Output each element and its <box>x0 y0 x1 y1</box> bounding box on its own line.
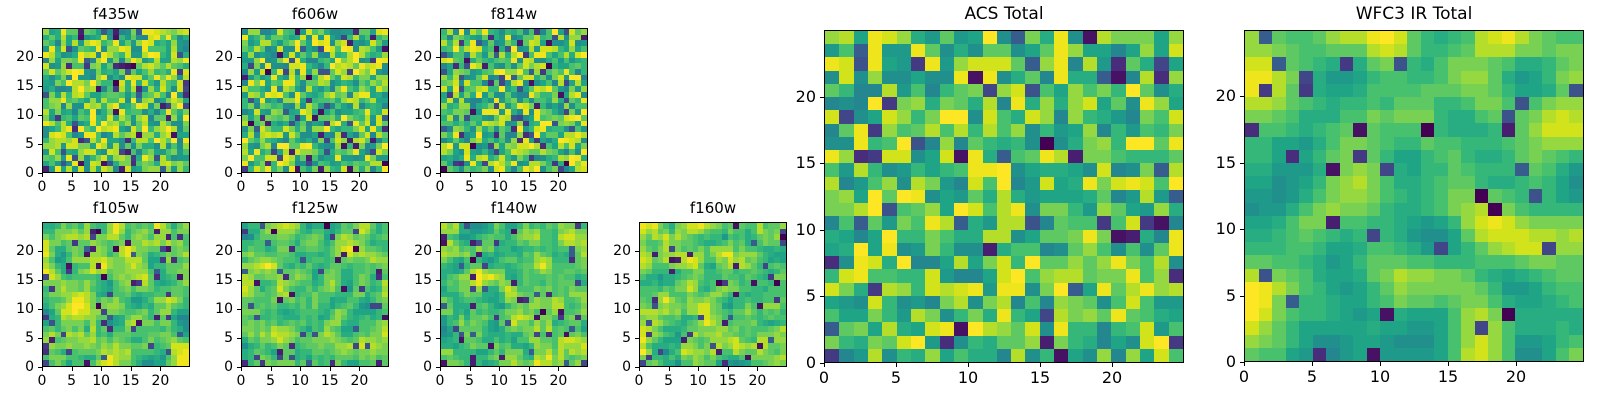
y-tick <box>38 280 42 281</box>
y-tick <box>237 144 241 145</box>
y-tick-label: 5 <box>400 137 432 151</box>
y-tick-label: 5 <box>400 331 432 345</box>
x-tick <box>1040 363 1041 367</box>
y-tick-label: 0 <box>2 166 34 180</box>
x-tick <box>241 367 242 371</box>
x-tick-label: 10 <box>92 374 110 388</box>
y-tick <box>237 57 241 58</box>
x-tick <box>330 173 331 177</box>
x-tick-label: 0 <box>38 374 47 388</box>
x-tick <box>558 173 559 177</box>
y-tick <box>436 367 440 368</box>
y-tick-label: 0 <box>2 360 34 374</box>
heatmap-panel: f160w0510152005101520 <box>599 192 807 397</box>
y-tick-label: 10 <box>2 108 34 122</box>
heatmap-grid <box>825 31 1183 362</box>
x-tick <box>529 367 530 371</box>
y-tick <box>436 338 440 339</box>
x-tick-label: 5 <box>67 374 76 388</box>
panel-title: ACS Total <box>824 6 1184 23</box>
y-tick-label: 0 <box>784 355 816 371</box>
x-tick <box>160 367 161 371</box>
y-tick <box>38 367 42 368</box>
y-tick-label: 15 <box>400 79 432 93</box>
y-tick <box>820 363 824 364</box>
heatmap-grid <box>43 223 189 366</box>
x-tick-label: 10 <box>1370 369 1390 385</box>
y-tick-label: 5 <box>2 137 34 151</box>
x-tick <box>72 367 73 371</box>
x-tick <box>440 367 441 371</box>
x-tick-label: 10 <box>490 374 508 388</box>
x-tick <box>470 367 471 371</box>
y-tick <box>635 251 639 252</box>
x-tick <box>330 367 331 371</box>
x-tick-label: 15 <box>719 374 737 388</box>
panel-title: f814w <box>440 7 588 22</box>
y-tick-label: 20 <box>400 244 432 258</box>
y-tick <box>436 173 440 174</box>
x-tick-label: 15 <box>520 374 538 388</box>
y-tick <box>820 296 824 297</box>
plot-area[interactable] <box>639 222 787 367</box>
plot-area[interactable] <box>440 222 588 367</box>
y-tick-label: 5 <box>784 288 816 304</box>
plot-area[interactable] <box>824 30 1184 363</box>
x-tick <box>359 173 360 177</box>
x-tick <box>300 173 301 177</box>
y-tick-label: 5 <box>599 331 631 345</box>
y-tick-label: 15 <box>784 155 816 171</box>
y-tick-label: 10 <box>400 108 432 122</box>
heatmap-panel: f140w0510152005101520 <box>400 192 608 397</box>
panel-title: WFC3 IR Total <box>1244 6 1584 23</box>
y-tick-label: 20 <box>1204 88 1236 104</box>
x-tick <box>470 173 471 177</box>
x-tick-label: 0 <box>1239 369 1249 385</box>
heatmap-panel: f435w0510152005101520 <box>2 0 210 203</box>
heatmap-grid <box>43 29 189 172</box>
heatmap-grid <box>441 223 587 366</box>
y-tick <box>436 309 440 310</box>
y-tick <box>1240 229 1244 230</box>
y-tick-label: 10 <box>784 222 816 238</box>
x-tick <box>558 367 559 371</box>
y-tick <box>635 338 639 339</box>
x-tick <box>160 173 161 177</box>
x-tick-label: 0 <box>237 374 246 388</box>
x-tick-label: 20 <box>350 374 368 388</box>
y-tick-label: 0 <box>400 166 432 180</box>
y-tick <box>1240 362 1244 363</box>
y-tick <box>38 309 42 310</box>
y-tick <box>820 230 824 231</box>
y-tick-label: 10 <box>599 302 631 316</box>
y-tick <box>436 144 440 145</box>
plot-area[interactable] <box>241 28 389 173</box>
y-tick-label: 15 <box>201 79 233 93</box>
y-tick <box>436 86 440 87</box>
x-tick-label: 5 <box>465 374 474 388</box>
y-tick-label: 5 <box>201 137 233 151</box>
y-tick-label: 20 <box>2 50 34 64</box>
x-tick <box>896 363 897 367</box>
heatmap-panel: f125w0510152005101520 <box>201 192 409 397</box>
x-tick-label: 15 <box>122 374 140 388</box>
y-tick-label: 20 <box>2 244 34 258</box>
y-tick <box>237 115 241 116</box>
y-tick <box>38 86 42 87</box>
y-tick <box>1240 296 1244 297</box>
x-tick <box>639 367 640 371</box>
y-tick <box>635 309 639 310</box>
heatmap-panel: WFC3 IR Total0510152005101520 <box>1204 0 1600 392</box>
x-tick <box>359 367 360 371</box>
y-tick <box>237 173 241 174</box>
panel-title: f435w <box>42 7 190 22</box>
x-tick <box>698 367 699 371</box>
heatmap-grid <box>242 223 388 366</box>
y-tick-label: 0 <box>201 166 233 180</box>
plot-area[interactable] <box>42 28 190 173</box>
y-tick-label: 5 <box>201 331 233 345</box>
y-tick <box>436 251 440 252</box>
x-tick <box>1448 362 1449 366</box>
x-tick <box>529 173 530 177</box>
y-tick-label: 0 <box>201 360 233 374</box>
y-tick <box>237 309 241 310</box>
x-tick-label: 20 <box>549 374 567 388</box>
x-tick-label: 15 <box>321 374 339 388</box>
x-tick <box>1380 362 1381 366</box>
x-tick <box>72 173 73 177</box>
y-tick <box>635 367 639 368</box>
x-tick <box>1112 363 1113 367</box>
y-tick <box>237 367 241 368</box>
x-tick-label: 20 <box>748 374 766 388</box>
y-tick-label: 20 <box>201 244 233 258</box>
x-tick-label: 5 <box>1307 369 1317 385</box>
panel-title: f140w <box>440 201 588 216</box>
y-tick <box>237 338 241 339</box>
x-tick <box>968 363 969 367</box>
x-tick-label: 10 <box>689 374 707 388</box>
y-tick <box>38 57 42 58</box>
x-tick <box>42 367 43 371</box>
heatmap-grid <box>640 223 786 366</box>
panel-title: f160w <box>639 201 787 216</box>
y-tick-label: 5 <box>1204 288 1236 304</box>
y-tick <box>38 251 42 252</box>
x-tick <box>101 173 102 177</box>
x-tick <box>131 173 132 177</box>
heatmap-panel: f606w0510152005101520 <box>201 0 409 203</box>
x-tick <box>271 367 272 371</box>
y-tick-label: 10 <box>201 108 233 122</box>
heatmap-grid <box>242 29 388 172</box>
y-tick <box>237 251 241 252</box>
plot-area[interactable] <box>1244 30 1584 362</box>
x-tick <box>1312 362 1313 366</box>
x-tick-label: 5 <box>266 374 275 388</box>
heatmap-grid <box>1245 31 1583 361</box>
y-tick-label: 5 <box>2 331 34 345</box>
x-tick-label: 0 <box>635 374 644 388</box>
x-tick <box>728 367 729 371</box>
figure-canvas: f435w0510152005101520f606w05101520051015… <box>0 0 1600 400</box>
panel-title: f105w <box>42 201 190 216</box>
x-tick <box>824 363 825 367</box>
y-tick <box>38 173 42 174</box>
x-tick-label: 15 <box>1030 370 1050 386</box>
y-tick-label: 15 <box>2 79 34 93</box>
plot-area[interactable] <box>440 28 588 173</box>
panel-title: f606w <box>241 7 389 22</box>
y-tick <box>436 57 440 58</box>
x-tick-label: 0 <box>819 370 829 386</box>
y-tick-label: 20 <box>784 89 816 105</box>
x-tick-label: 20 <box>1102 370 1122 386</box>
y-tick-label: 15 <box>201 273 233 287</box>
y-tick-label: 0 <box>1204 354 1236 370</box>
y-tick <box>436 115 440 116</box>
x-tick-label: 20 <box>1506 369 1526 385</box>
x-tick-label: 20 <box>151 374 169 388</box>
x-tick <box>1516 362 1517 366</box>
y-tick <box>436 280 440 281</box>
x-tick <box>300 367 301 371</box>
y-tick <box>820 163 824 164</box>
y-tick <box>1240 96 1244 97</box>
y-tick-label: 0 <box>599 360 631 374</box>
y-tick-label: 20 <box>400 50 432 64</box>
heatmap-panel: f105w0510152005101520 <box>2 192 210 397</box>
y-tick-label: 15 <box>2 273 34 287</box>
y-tick <box>820 97 824 98</box>
y-tick <box>1240 163 1244 164</box>
y-tick-label: 10 <box>400 302 432 316</box>
x-tick-label: 0 <box>436 374 445 388</box>
y-tick-label: 10 <box>2 302 34 316</box>
x-tick <box>101 367 102 371</box>
y-tick-label: 20 <box>599 244 631 258</box>
heatmap-grid <box>441 29 587 172</box>
plot-area[interactable] <box>42 222 190 367</box>
y-tick <box>38 115 42 116</box>
y-tick-label: 0 <box>400 360 432 374</box>
x-tick <box>1244 362 1245 366</box>
y-tick-label: 10 <box>1204 221 1236 237</box>
y-tick-label: 15 <box>1204 155 1236 171</box>
x-tick <box>499 367 500 371</box>
x-tick-label: 5 <box>664 374 673 388</box>
x-tick-label: 10 <box>291 374 309 388</box>
y-tick-label: 20 <box>201 50 233 64</box>
plot-area[interactable] <box>241 222 389 367</box>
x-tick <box>42 173 43 177</box>
y-tick <box>237 86 241 87</box>
y-tick <box>635 280 639 281</box>
y-tick <box>38 338 42 339</box>
y-tick-label: 10 <box>201 302 233 316</box>
x-tick-label: 15 <box>1438 369 1458 385</box>
x-tick <box>499 173 500 177</box>
x-tick-label: 5 <box>891 370 901 386</box>
x-tick <box>440 173 441 177</box>
heatmap-panel: f814w0510152005101520 <box>400 0 608 203</box>
x-tick <box>131 367 132 371</box>
y-tick <box>237 280 241 281</box>
y-tick-label: 15 <box>400 273 432 287</box>
x-tick <box>669 367 670 371</box>
x-tick <box>271 173 272 177</box>
x-tick <box>757 367 758 371</box>
y-tick <box>38 144 42 145</box>
y-tick-label: 15 <box>599 273 631 287</box>
x-tick <box>241 173 242 177</box>
heatmap-panel: ACS Total0510152005101520 <box>784 0 1204 393</box>
x-tick-label: 10 <box>958 370 978 386</box>
panel-title: f125w <box>241 201 389 216</box>
